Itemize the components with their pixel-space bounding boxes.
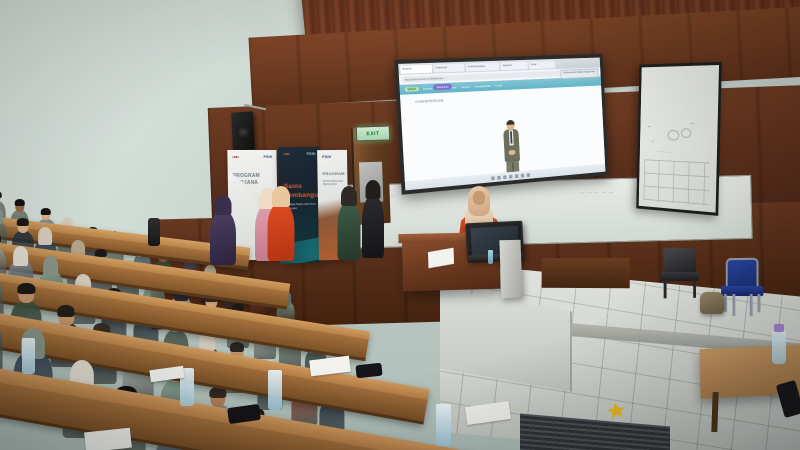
water-bottle[interactable] <box>436 404 451 446</box>
thermos-flask[interactable] <box>148 218 160 246</box>
wall-whiteboard: ▪▪ ▪▪ ↗ —— —— <box>636 62 722 216</box>
mail-icon[interactable] <box>503 175 507 179</box>
site-logo[interactable]: SIMAK <box>405 87 419 92</box>
nav-link[interactable]: Kemahasiswaan <box>474 84 491 88</box>
banner-program-label: PROGRAM <box>322 172 344 177</box>
files-icon[interactable] <box>514 174 518 178</box>
stacked-black-chairs[interactable] <box>661 248 699 299</box>
wall-speaker <box>231 111 255 150</box>
hair <box>58 305 75 317</box>
browser-tab[interactable]: Akademik <box>500 61 527 69</box>
water-bottle[interactable] <box>22 338 35 374</box>
browser-tab[interactable]: Dashboard <box>434 63 465 72</box>
audience-member <box>0 299 1 374</box>
hair <box>0 191 1 198</box>
hair <box>18 283 35 295</box>
browser-icon[interactable] <box>497 175 501 179</box>
settings-icon[interactable] <box>526 173 530 177</box>
standing-attendee <box>362 180 384 258</box>
page-title: CHAIRPERSON <box>415 99 443 104</box>
projected-desktop: Beranda Dashboard Profil Mahasiswa Akade… <box>398 58 605 191</box>
notification-popup[interactable]: Notifikasi sistem Silakan lengkapi data <box>560 68 598 79</box>
hair <box>16 218 28 226</box>
paper-sheet <box>84 428 132 450</box>
login-pill-button[interactable]: Masuk Akun <box>433 84 452 91</box>
nav-link[interactable]: Layanan <box>461 85 470 88</box>
projection-screen: Beranda Dashboard Profil Mahasiswa Akade… <box>394 54 608 195</box>
lecture-hall-photo: — — — — — — — — — — — — — — — Beranda Da… <box>0 0 800 450</box>
standing-attendee <box>210 195 236 265</box>
browser-tab[interactable]: Beranda <box>400 64 432 73</box>
chat-icon[interactable] <box>509 174 513 178</box>
nav-link[interactable]: Beranda <box>423 87 432 90</box>
hair <box>14 199 25 206</box>
smartphone[interactable] <box>355 363 382 379</box>
standing-attendee <box>268 186 294 260</box>
headscarf <box>13 246 29 266</box>
podium-water-bottle[interactable] <box>488 250 493 264</box>
brand-mark: UNIV <box>283 152 289 156</box>
faculty-code: FSIK <box>307 152 316 156</box>
wood-wall-bench <box>542 258 630 288</box>
exit-sign: EXIT <box>356 125 391 141</box>
hair <box>0 233 1 242</box>
exit-sign-label: EXIT <box>366 130 379 136</box>
browser-tab[interactable]: Portal <box>529 60 555 68</box>
standing-attendee <box>338 186 360 260</box>
pc-tower <box>499 240 522 299</box>
water-bottle[interactable] <box>268 370 282 410</box>
media-icon[interactable] <box>520 173 524 177</box>
bottle-cap <box>774 324 784 332</box>
folder-icon[interactable] <box>491 176 495 180</box>
browser-tab[interactable]: Profil Mahasiswa <box>466 62 499 71</box>
hair <box>41 208 52 215</box>
faculty-code: FSIK <box>264 155 273 159</box>
hair <box>230 342 244 351</box>
water-bottle[interactable] <box>772 330 786 364</box>
headscarf <box>43 256 59 276</box>
backpack[interactable] <box>700 292 724 314</box>
nav-link[interactable]: Kontak <box>495 84 502 87</box>
brand-mark: UNIV <box>232 155 238 159</box>
headscarf <box>0 207 3 224</box>
faculty-code: FSIK <box>322 155 331 159</box>
blue-chair[interactable] <box>721 258 763 311</box>
headscarf <box>39 227 53 244</box>
